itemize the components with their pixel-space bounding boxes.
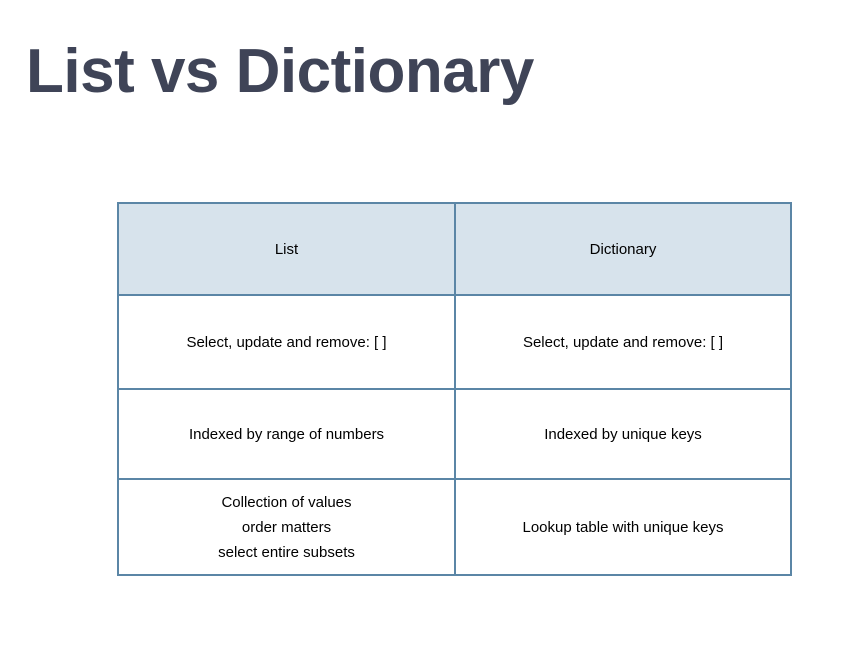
table-body: Select, update and remove: [ ] Select, u… (118, 295, 791, 575)
table-row: Select, update and remove: [ ] Select, u… (118, 295, 791, 389)
cell-text: Indexed by unique keys (464, 422, 782, 447)
cell-text: Indexed by range of numbers (127, 422, 446, 447)
cell-text: Collection of values order matters selec… (127, 490, 446, 565)
table-row: Indexed by range of numbers Indexed by u… (118, 389, 791, 479)
cell-dictionary-row-2: Indexed by unique keys (455, 389, 791, 479)
cell-text: Select, update and remove: [ ] (127, 330, 446, 355)
column-header-dictionary: Dictionary (455, 203, 791, 295)
cell-text: Lookup table with unique keys (464, 515, 782, 540)
cell-line: Lookup table with unique keys (464, 515, 782, 540)
column-header-list: List (118, 203, 455, 295)
cell-dictionary-row-1: Select, update and remove: [ ] (455, 295, 791, 389)
table-row: Collection of values order matters selec… (118, 479, 791, 575)
cell-line: order matters (127, 515, 446, 540)
slide-canvas: List vs Dictionary List Dictionary Selec… (0, 0, 860, 656)
cell-list-row-2: Indexed by range of numbers (118, 389, 455, 479)
cell-text: Select, update and remove: [ ] (464, 330, 782, 355)
table-header-row: List Dictionary (118, 203, 791, 295)
cell-line: Select, update and remove: [ ] (127, 330, 446, 355)
cell-line: Select, update and remove: [ ] (464, 330, 782, 355)
table-header: List Dictionary (118, 203, 791, 295)
cell-line: Indexed by unique keys (464, 422, 782, 447)
cell-dictionary-row-3: Lookup table with unique keys (455, 479, 791, 575)
cell-line: select entire subsets (127, 540, 446, 565)
cell-list-row-1: Select, update and remove: [ ] (118, 295, 455, 389)
comparison-table: List Dictionary Select, update and remov… (117, 202, 792, 576)
cell-line: Indexed by range of numbers (127, 422, 446, 447)
cell-list-row-3: Collection of values order matters selec… (118, 479, 455, 575)
cell-line: Collection of values (127, 490, 446, 515)
page-title: List vs Dictionary (26, 34, 826, 110)
